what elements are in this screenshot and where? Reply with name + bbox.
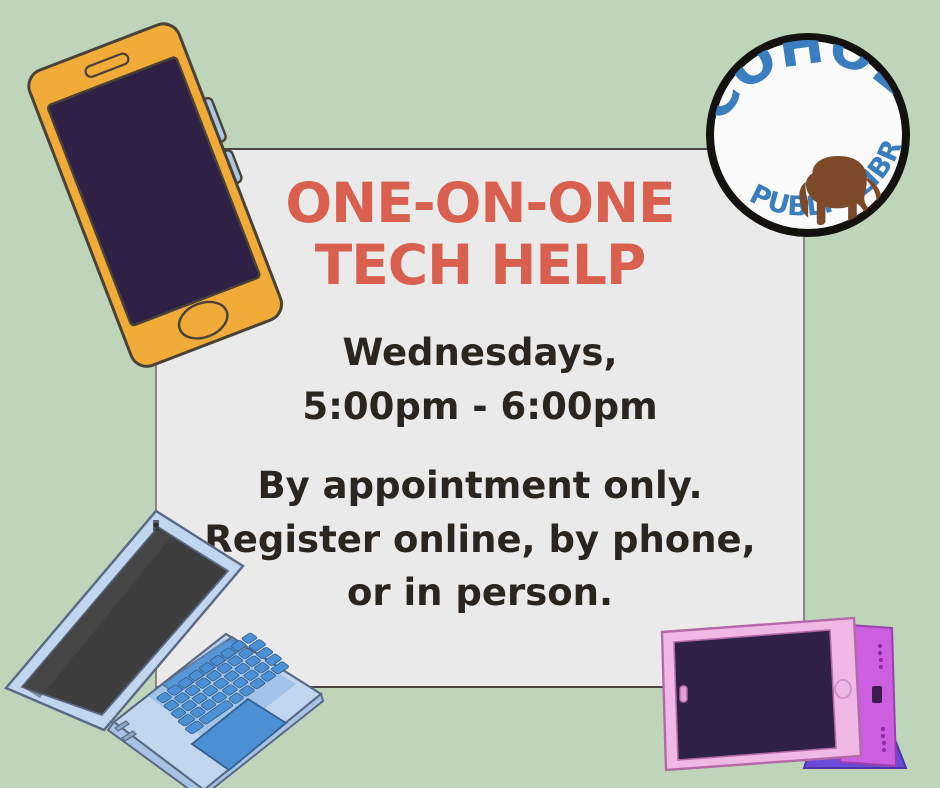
- laptop-illustration: [0, 498, 336, 788]
- library-logo: COHOES PUBLIC LIBRARY: [702, 29, 914, 241]
- poster-canvas: COHOES PUBLIC LIBRARY ONE-ON-ONE TECH HE…: [0, 0, 940, 788]
- smartphone-illustration: [18, 14, 288, 374]
- tablet-illustration: [644, 596, 940, 788]
